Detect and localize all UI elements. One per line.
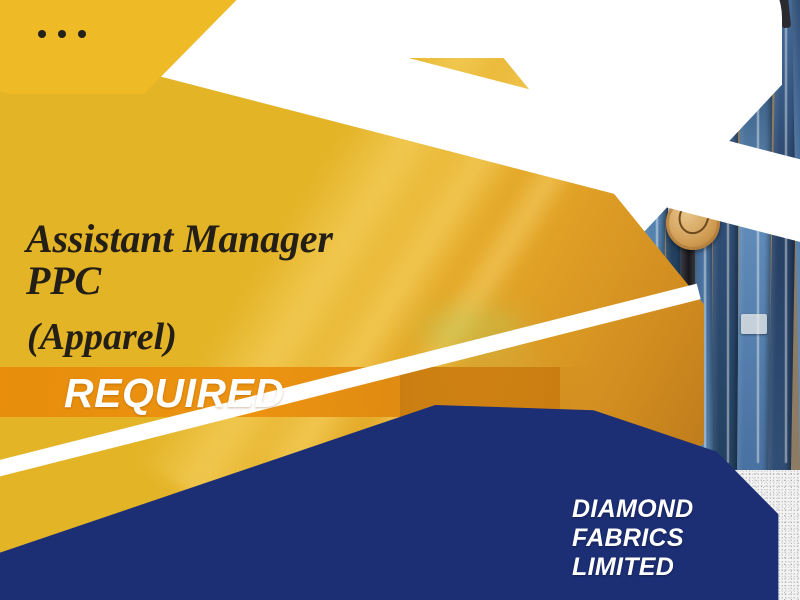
- job-advert-poster: Assistant Manager PPC (Apparel) REQUIRED…: [0, 0, 800, 600]
- job-title: Assistant Manager PPC: [26, 218, 466, 301]
- three-dots-icon[interactable]: [38, 30, 86, 38]
- company-name-line-1: DIAMOND: [572, 495, 694, 524]
- company-name: DIAMOND FABRICS LIMITED: [572, 495, 694, 582]
- company-name-line-2: FABRICS: [572, 524, 694, 553]
- job-title-line-2: PPC: [26, 260, 466, 302]
- required-banner-fade: [400, 367, 600, 417]
- required-label: REQUIRED: [64, 370, 284, 416]
- dot: [78, 30, 86, 38]
- job-title-line-1: Assistant Manager: [26, 218, 466, 260]
- dot: [58, 30, 66, 38]
- dot: [38, 30, 46, 38]
- job-department: (Apparel): [27, 318, 177, 356]
- jean-patch: [741, 314, 767, 334]
- company-name-line-3: LIMITED: [572, 553, 694, 582]
